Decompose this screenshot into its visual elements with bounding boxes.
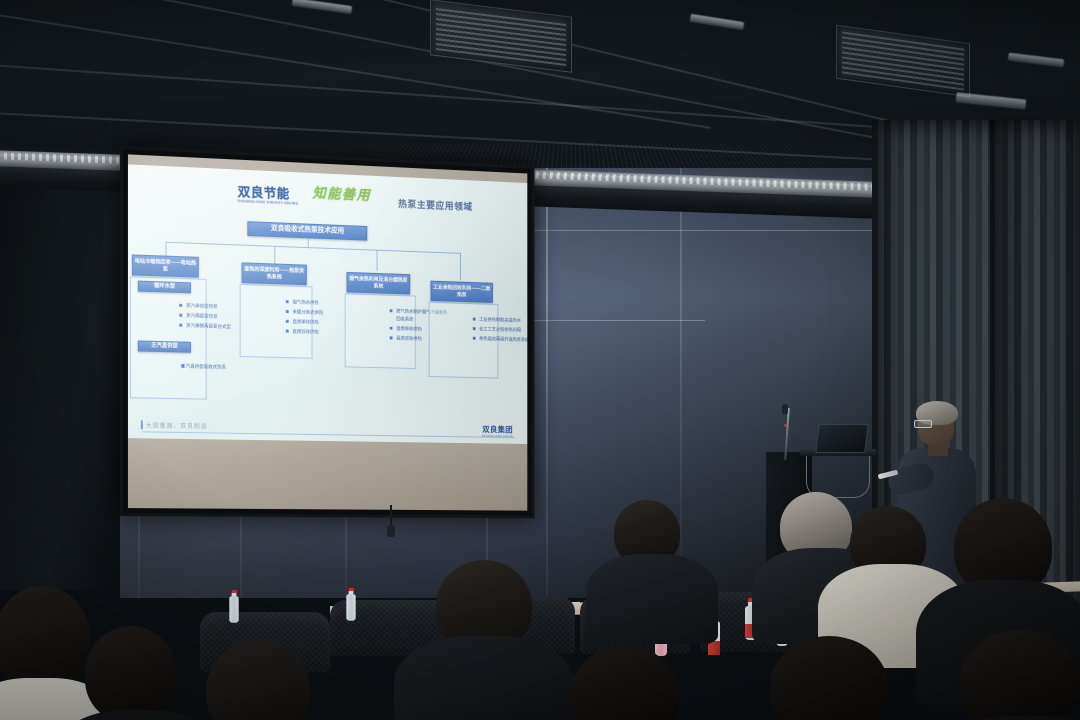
subgroup-heading-1-2: 乏汽直供型	[138, 340, 191, 352]
presentation-slide: 双良节能 SHUANGLIANG ENERGY-SAVING 知能善用 热泵主要…	[128, 164, 527, 453]
wall-left-dark	[0, 160, 128, 590]
ceiling-light	[1008, 53, 1065, 68]
screen-blank-area	[128, 438, 527, 511]
audience-head	[570, 646, 680, 720]
bottle-body	[346, 594, 355, 621]
subgroup-heading-1-1: 循环水型	[138, 281, 191, 294]
bottle-body	[229, 596, 238, 623]
footer-logo-subtext: SHUANGLIANG GROUP	[482, 435, 513, 438]
ceiling-rail	[0, 8, 711, 129]
panel-seam	[680, 168, 682, 598]
slide-footer-slogan: 大国重器、双良制造	[146, 420, 208, 430]
ceiling-air-vent	[430, 0, 572, 73]
screen-pull-cord	[390, 505, 392, 527]
calligraphy-slogan: 知能善用	[312, 183, 371, 205]
ceiling-light	[292, 0, 353, 14]
connector	[377, 250, 378, 271]
bullet-item: 直燃单效供热	[286, 317, 323, 326]
bullet-item: 直燃双效供热	[286, 327, 323, 336]
connector	[166, 242, 460, 254]
ceiling-light	[690, 14, 745, 30]
glasses-icon	[914, 420, 932, 428]
audience-head	[960, 630, 1080, 720]
audience-shoulders	[394, 636, 574, 720]
slide-footer-logo: 双良集团 SHUANGLIANG GROUP	[482, 424, 513, 438]
microphone-indicator	[784, 424, 787, 427]
slide-footer-rule	[142, 431, 515, 438]
conference-room-photo: 双良节能 SHUANGLIANG ENERGY-SAVING 知能善用 热泵主要…	[0, 0, 1080, 720]
bullet-list-2: 烟气热水供热 采暖分离式供热 直燃单效供热 直燃双效供热	[247, 297, 323, 338]
column-body-1	[130, 276, 207, 399]
bullet-item: 工业余热制取高温热水	[473, 315, 527, 325]
bullet-list-1-2: 乏汽直供型吸收式热泵	[142, 361, 226, 373]
footer-logo-text: 双良集团	[482, 425, 513, 434]
ceiling-light	[956, 92, 1027, 109]
connector	[274, 246, 275, 264]
slide-header: 双良节能 SHUANGLIANG ENERGY-SAVING 知能善用 热泵主要…	[154, 176, 519, 225]
panel-seam	[546, 168, 548, 598]
bullet-item: 蒸汽单效型热泵	[179, 301, 231, 311]
audience-shoulders	[930, 716, 1080, 720]
bullet-item: 蒸汽两级型热泵	[179, 311, 231, 321]
bullet-item: 蒸汽串联两级复合式型	[179, 321, 231, 331]
bullet-item: 化工工艺过程余热利用	[473, 325, 527, 335]
audience-head	[0, 586, 90, 690]
bullet-list-4: 工业余热制取高温热水 化工工艺过程余热利用 余热驱动两级升温热泵系统	[436, 314, 527, 345]
connector	[166, 242, 167, 256]
bullet-item: 乏汽直供型吸收式热泵	[181, 362, 226, 371]
shuangliang-logo: 双良节能 SHUANGLIANG ENERGY-SAVING	[238, 181, 299, 205]
laptop-screen	[815, 424, 869, 453]
column-heading-1: 电站冷端热回收——电站热泵	[132, 254, 199, 277]
connector	[308, 238, 309, 247]
ceiling-air-vent	[836, 25, 970, 98]
slide-header-subject: 热泵主要应用领域	[398, 196, 473, 213]
column-heading-2: 废热的深度利用——热泵供热系统	[242, 262, 307, 285]
bullet-list-1-1: 蒸汽单效型热泵 蒸汽两级型热泵 蒸汽串联两级复合式型	[140, 300, 231, 332]
bullet-item: 采暖分离式供热	[286, 308, 323, 317]
connector	[460, 253, 461, 280]
column-heading-4: 工业余热回收利用——二类热泵	[431, 281, 493, 303]
column-heading-3: 烟气余热利用及消白烟热泵系统	[347, 272, 411, 295]
screen-surface: 双良节能 SHUANGLIANG ENERGY-SAVING 知能善用 热泵主要…	[128, 154, 527, 510]
bullet-item: 余热驱动两级升温热泵系统	[473, 334, 527, 344]
audience-shoulders	[586, 554, 718, 644]
bullet-item: 烟气热水供热	[286, 298, 323, 307]
audience-head	[85, 626, 177, 720]
microphone-icon	[782, 404, 788, 415]
projection-screen: 双良节能 SHUANGLIANG ENERGY-SAVING 知能善用 热泵主要…	[120, 146, 535, 518]
